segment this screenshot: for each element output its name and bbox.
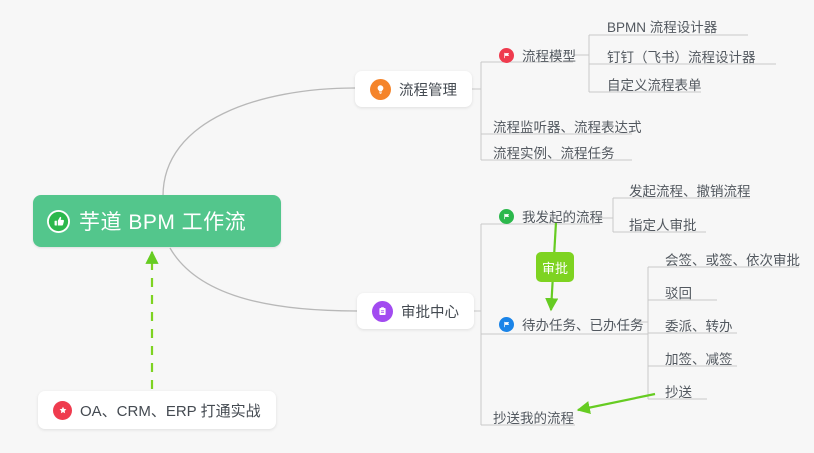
node-label-reject: 驳回 xyxy=(665,282,692,302)
node-label-delegate-transfer: 委派、转办 xyxy=(665,315,733,335)
thumbs-up-icon xyxy=(47,210,70,233)
node-label-custom-process-form: 自定义流程表单 xyxy=(607,74,702,94)
node-countersign-orsign-sequential[interactable]: 会签、或签、依次审批 xyxy=(661,246,804,272)
node-label-start-cancel-process: 发起流程、撤销流程 xyxy=(629,180,751,200)
node-label-process-instance-task: 流程实例、流程任务 xyxy=(493,142,615,162)
node-my-initiated-process[interactable]: 我发起的流程 xyxy=(495,203,607,229)
approve-tag: 审批 xyxy=(536,252,574,282)
edge-root-to-process-management xyxy=(163,88,355,196)
node-process-listener-expression[interactable]: 流程监听器、流程表达式 xyxy=(489,113,646,139)
node-label-process-listener-expression: 流程监听器、流程表达式 xyxy=(493,116,642,136)
floating-node-label-oa-crm-erp: OA、CRM、ERP 打通实战 xyxy=(80,400,261,421)
node-delegate-transfer[interactable]: 委派、转办 xyxy=(661,312,737,338)
star-icon xyxy=(53,401,72,420)
arrow-cc-to-ccprocess xyxy=(578,394,655,410)
clipboard-icon xyxy=(372,301,393,322)
node-label-assignee-approval: 指定人审批 xyxy=(629,214,697,234)
node-carbon-copy[interactable]: 抄送 xyxy=(661,378,696,404)
node-todo-done-tasks[interactable]: 待办任务、已办任务 xyxy=(495,311,648,337)
node-label-countersign-orsign-sequential: 会签、或签、依次审批 xyxy=(665,249,800,269)
flag-icon xyxy=(499,317,514,332)
root-label: 芋道 BPM 工作流 xyxy=(79,206,246,236)
flag-icon xyxy=(499,209,514,224)
node-label-dingtalk-feishu-designer: 钉钉（飞书）流程设计器 xyxy=(607,46,756,66)
node-assignee-approval[interactable]: 指定人审批 xyxy=(625,211,701,237)
branch-node-process-management[interactable]: 流程管理 xyxy=(355,71,472,107)
floating-node-oa-crm-erp[interactable]: OA、CRM、ERP 打通实战 xyxy=(38,391,276,429)
node-custom-process-form[interactable]: 自定义流程表单 xyxy=(603,71,706,97)
node-label-carbon-copy: 抄送 xyxy=(665,381,692,401)
node-add-remove-sign[interactable]: 加签、减签 xyxy=(661,345,737,371)
node-label-add-remove-sign: 加签、减签 xyxy=(665,348,733,368)
node-label-my-initiated-process: 我发起的流程 xyxy=(522,206,603,226)
node-label-bpmn-designer: BPMN 流程设计器 xyxy=(607,16,717,36)
node-start-cancel-process[interactable]: 发起流程、撤销流程 xyxy=(625,177,755,203)
node-label-cc-to-me-process: 抄送我的流程 xyxy=(493,407,574,427)
node-process-model[interactable]: 流程模型 xyxy=(495,42,580,68)
lightbulb-icon xyxy=(370,79,391,100)
branch-node-approval-center[interactable]: 审批中心 xyxy=(357,293,474,329)
branch-label-process-management: 流程管理 xyxy=(399,79,457,100)
mindmap-canvas: 芋道 BPM 工作流 流程管理 流程模型 流程监听器、流程表达式 流程实例、流程… xyxy=(0,0,814,453)
node-process-instance-task[interactable]: 流程实例、流程任务 xyxy=(489,139,619,165)
approve-tag-label: 审批 xyxy=(542,258,568,277)
node-reject[interactable]: 驳回 xyxy=(661,279,696,305)
node-label-process-model: 流程模型 xyxy=(522,45,576,65)
flag-icon xyxy=(499,48,514,63)
node-dingtalk-feishu-designer[interactable]: 钉钉（飞书）流程设计器 xyxy=(603,43,760,69)
node-cc-to-me-process[interactable]: 抄送我的流程 xyxy=(489,404,578,430)
edge-root-to-approval-center xyxy=(170,248,357,311)
node-label-todo-done-tasks: 待办任务、已办任务 xyxy=(522,314,644,334)
root-node[interactable]: 芋道 BPM 工作流 xyxy=(33,195,281,247)
node-bpmn-designer[interactable]: BPMN 流程设计器 xyxy=(603,13,721,39)
branch-label-approval-center: 审批中心 xyxy=(401,301,459,322)
